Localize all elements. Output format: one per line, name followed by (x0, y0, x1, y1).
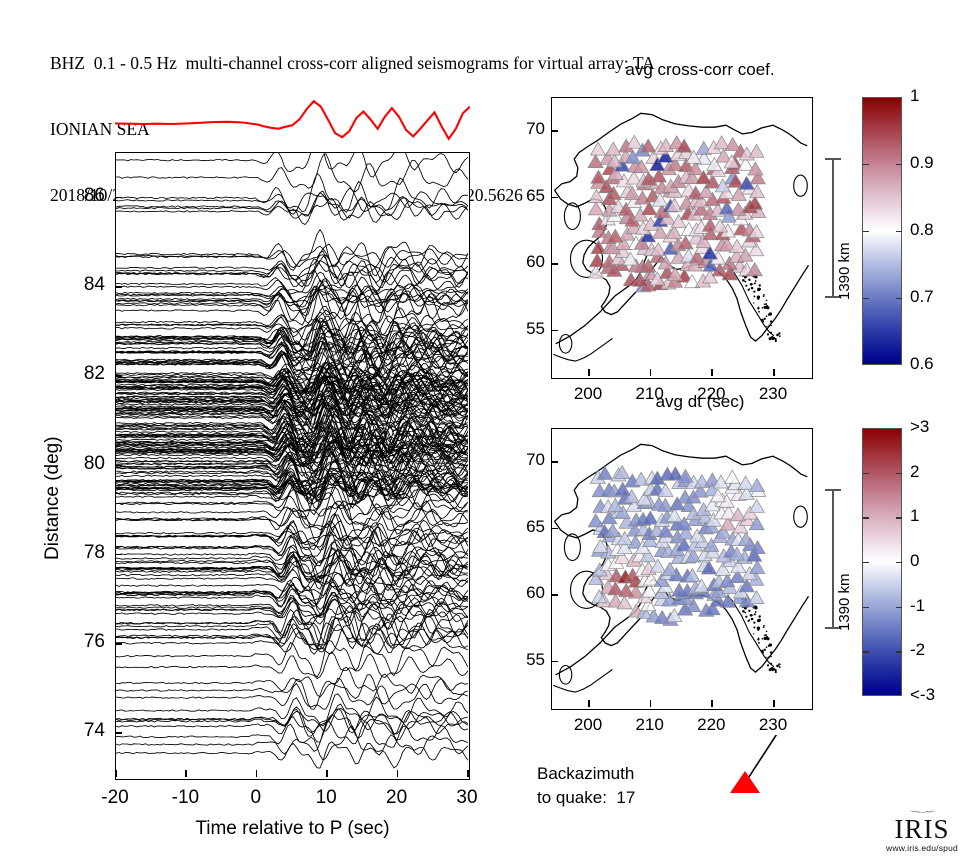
island (564, 203, 580, 230)
island-speck (757, 307, 759, 309)
island-speck (758, 642, 760, 644)
x-axis-tick-label: 0 (226, 787, 286, 809)
map-x-tick-label: 210 (625, 715, 675, 735)
colorbar-tick (863, 231, 869, 232)
island-speck (762, 638, 764, 640)
station-triangle-icon (725, 470, 740, 483)
y-axis-tick (115, 465, 122, 467)
island-speck (753, 633, 754, 634)
station-triangle-icon (738, 476, 753, 489)
x-axis-tick (256, 770, 258, 777)
y-axis-tick (115, 375, 122, 377)
y-axis-tick (115, 286, 122, 288)
station-triangle-icon (749, 591, 764, 604)
island-speck (779, 666, 781, 668)
island-speck (770, 325, 771, 326)
island-speck (751, 287, 754, 290)
island-speck (758, 288, 761, 291)
record-section-y-axis-label: Distance (deg) (42, 436, 64, 560)
island-speck (770, 663, 772, 665)
y-axis-tick (115, 643, 122, 645)
y-axis-tick-label: 84 (45, 274, 105, 296)
island-speck (742, 279, 745, 282)
island-speck (750, 614, 753, 617)
island-speck (755, 280, 757, 282)
island-speck (772, 336, 773, 337)
colorbar-tick-label: 0.8 (910, 220, 934, 240)
colorbar-tick-label: 0 (910, 551, 919, 571)
island-speck (762, 307, 764, 309)
island-speck (759, 284, 761, 286)
x-axis-tick (326, 770, 328, 777)
island-speck (768, 314, 770, 316)
island-speck (764, 635, 765, 636)
stack-trace-panel (115, 88, 470, 150)
seismogram-trace (116, 153, 468, 177)
station-triangle-icon (588, 155, 603, 168)
island-speck (753, 296, 755, 298)
map-y-tick (551, 594, 558, 596)
colorbar-tick (863, 473, 869, 474)
x-axis-tick (397, 770, 399, 777)
island-speck (754, 613, 756, 615)
island (559, 666, 571, 685)
island-speck (744, 612, 746, 614)
colorbar-tick-label: 0.7 (910, 287, 934, 307)
island-speck (775, 338, 777, 340)
station-triangle-icon (730, 771, 760, 793)
island-speck (763, 295, 765, 297)
stack-trace-svg (115, 88, 470, 150)
island-speck (755, 611, 757, 613)
map-y-tick (551, 528, 558, 530)
x-axis-tick-label: 10 (296, 787, 356, 809)
colorbar-tick (896, 298, 902, 299)
island-speck (769, 337, 772, 340)
backazimuth-ray (745, 735, 777, 783)
island-speck (763, 652, 764, 653)
island-speck (772, 667, 773, 668)
island-speck (770, 320, 772, 322)
map-avg-dt (551, 428, 813, 710)
station-triangle-icon (606, 142, 621, 155)
stack-trace-line (115, 101, 470, 139)
station-triangle-icon (714, 136, 729, 149)
island-speck (744, 281, 746, 283)
map1-svg (552, 98, 811, 377)
map-y-tick (551, 197, 558, 199)
y-axis-tick (115, 197, 122, 199)
colorbar-tick (896, 164, 902, 165)
map-x-tick (650, 700, 652, 707)
island-speck (748, 289, 750, 291)
island-speck (765, 303, 767, 305)
map-y-tick (551, 661, 558, 663)
map-y-tick-label: 65 (501, 186, 545, 206)
island-speck (759, 615, 761, 617)
island-speck (758, 311, 760, 313)
station-triangle-icon (750, 479, 765, 492)
map-y-tick-label: 65 (501, 517, 545, 537)
island (794, 175, 808, 196)
island-speck (758, 619, 761, 622)
island (794, 506, 808, 527)
island-speck (751, 618, 754, 621)
map1-scale-bar-label: 1390 km (836, 242, 853, 300)
x-axis-tick-label: -20 (85, 787, 145, 809)
map-x-tick (650, 369, 652, 376)
island-speck (767, 664, 769, 666)
seismogram-trace (116, 154, 468, 192)
backazimuth-indicator (712, 735, 832, 815)
island-speck (766, 315, 768, 317)
island-speck (752, 284, 753, 285)
map-x-tick (773, 369, 775, 376)
colorbar-tick-label: 2 (910, 462, 919, 482)
island-speck (766, 646, 768, 648)
colorbar-tick-label: 0.9 (910, 153, 934, 173)
station-triangle-icon (588, 514, 603, 527)
island-speck (763, 626, 765, 628)
island-speck (757, 638, 759, 640)
island-speck (767, 333, 769, 335)
island-speck (768, 645, 770, 647)
seismogram-trace (116, 726, 468, 760)
colorbar-tick-label: -2 (910, 640, 925, 660)
map-x-tick-label: 200 (563, 715, 613, 735)
island-speck (753, 627, 755, 629)
colorbar-tick (863, 298, 869, 299)
colorbar-tick (863, 164, 869, 165)
map1-title: avg cross-corr coef. (550, 60, 850, 80)
station-triangle-icon (725, 138, 740, 151)
island-speck (766, 300, 768, 302)
island-speck (764, 318, 766, 320)
station-triangle-icon (749, 144, 764, 157)
island-speck (775, 671, 777, 673)
y-axis-tick-label: 86 (45, 185, 105, 207)
colorbar-tick (863, 517, 869, 518)
map2-svg (552, 429, 811, 708)
x-axis-tick-label: 30 (437, 787, 497, 809)
island-speck (771, 668, 774, 671)
map-y-tick (551, 130, 558, 132)
iris-wordmark: IRIS (878, 816, 966, 843)
seismogram-trace (116, 675, 468, 710)
map-y-tick-label: 70 (501, 119, 545, 139)
island-speck (753, 291, 755, 293)
map-y-tick-label: 55 (501, 319, 545, 339)
map-x-tick (588, 369, 590, 376)
station-triangle-icon (627, 135, 642, 148)
island-speck (766, 637, 769, 640)
x-axis-tick-label: -10 (155, 787, 215, 809)
island-speck (748, 620, 750, 622)
island-speck (766, 306, 769, 309)
map-x-tick (711, 700, 713, 707)
island-speck (766, 326, 767, 327)
island-speck (776, 665, 779, 668)
map-y-tick-label: 60 (501, 252, 545, 272)
seismogram-trace (116, 230, 468, 276)
island-speck (742, 610, 745, 613)
island (564, 534, 580, 561)
island-speck (748, 610, 750, 612)
colorbar-tick-label: -1 (910, 596, 925, 616)
map-y-tick-label: 55 (501, 650, 545, 670)
island-speck (769, 668, 772, 671)
island-speck (768, 657, 770, 659)
map-y-tick (551, 461, 558, 463)
island-speck (754, 282, 756, 284)
record-section-traces (116, 153, 468, 778)
map-avg-cross-corr-coef (551, 97, 813, 379)
island-speck (776, 334, 779, 337)
map-x-tick (588, 700, 590, 707)
island-speck (748, 279, 750, 281)
map-y-tick (551, 330, 558, 332)
island (559, 335, 571, 354)
coastline (553, 339, 612, 362)
island-speck (770, 656, 771, 657)
record-section-panel (115, 152, 470, 780)
backazimuth-svg (712, 735, 832, 815)
map-x-tick (711, 369, 713, 376)
island-speck (752, 615, 753, 616)
record-section-x-axis-label: Time relative to P (sec) (115, 818, 470, 840)
colorbar-tick (896, 562, 902, 563)
colorbar-tick (863, 607, 869, 608)
backazimuth-label: Backazimuth to quake: 17 (537, 762, 635, 810)
island-speck (766, 631, 768, 633)
island-speck (753, 622, 755, 624)
seismogram-trace (116, 173, 468, 212)
island-speck (764, 637, 767, 640)
island-speck (770, 651, 772, 653)
colorbar-tick-label: >3 (910, 417, 929, 437)
map-x-tick-label: 230 (748, 715, 798, 735)
station-triangle-icon (662, 562, 677, 575)
island-speck (768, 326, 770, 328)
seismogram-trace (116, 667, 468, 697)
island-speck (757, 298, 759, 300)
colorbar-tick (863, 651, 869, 652)
colorbar-tick (896, 473, 902, 474)
y-axis-tick-label: 82 (45, 363, 105, 385)
x-axis-tick-label: 20 (367, 787, 427, 809)
island-speck (771, 337, 774, 340)
island-speck (766, 657, 767, 658)
map-x-tick (773, 700, 775, 707)
colorbar-tick-label: 0.6 (910, 354, 934, 374)
colorbar-tick (896, 517, 902, 518)
island-speck (764, 306, 767, 309)
colorbar-tick (896, 651, 902, 652)
island-speck (779, 335, 781, 337)
colorbar-tick-label: 1 (910, 506, 919, 526)
map2-title: avg dt (sec) (550, 392, 850, 412)
station-triangle-icon (750, 560, 765, 573)
map-x-tick-label: 220 (686, 715, 736, 735)
island-speck (763, 321, 764, 322)
colorbar-tick (896, 231, 902, 232)
colorbar-tick (863, 562, 869, 563)
station-triangle-icon (589, 202, 604, 215)
island-speck (765, 634, 767, 636)
island-speck (753, 302, 754, 303)
station-triangle-icon (749, 499, 764, 512)
island-speck (770, 332, 772, 334)
iris-url: www.iris.edu/spud (878, 843, 966, 853)
y-axis-tick (115, 554, 122, 556)
island-speck (757, 629, 759, 631)
island-speck (764, 304, 765, 305)
colorbar-tick-label: <-3 (910, 685, 935, 705)
iris-logo: ~⁓—⁓~ IRIS www.iris.edu/spud (878, 808, 966, 853)
map-y-tick-label: 60 (501, 583, 545, 603)
seismogram-trace (116, 742, 468, 768)
island-speck (764, 649, 766, 651)
colorbar-tick (896, 607, 902, 608)
colorbar-tick-label: 1 (910, 86, 919, 106)
island-speck (775, 669, 777, 671)
map-y-tick-label: 70 (501, 450, 545, 470)
island-speck (750, 283, 753, 286)
map-y-tick (551, 263, 558, 265)
island-speck (775, 340, 777, 342)
y-axis-tick-label: 74 (45, 720, 105, 742)
y-axis-tick (115, 732, 122, 734)
x-axis-tick (467, 770, 469, 777)
coastline (553, 670, 612, 693)
y-axis-tick-label: 76 (45, 631, 105, 653)
x-axis-tick (185, 770, 187, 777)
x-axis-tick (115, 770, 117, 777)
seismogram-trace (116, 721, 468, 751)
island-speck (745, 285, 747, 287)
island-speck (745, 616, 747, 618)
map2-scale-bar-label: 1390 km (836, 573, 853, 631)
